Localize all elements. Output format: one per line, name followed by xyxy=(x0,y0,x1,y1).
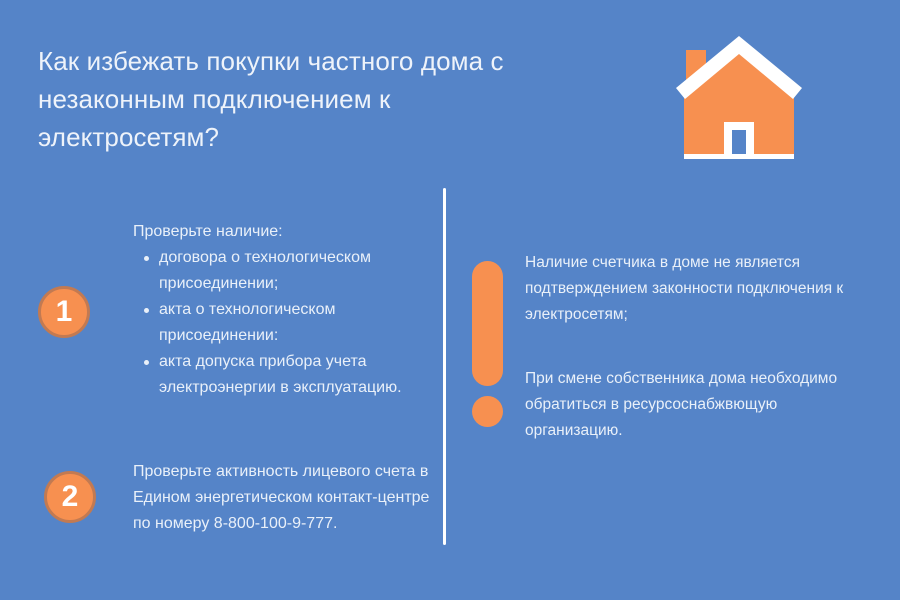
step-number-badge-1: 1 xyxy=(38,286,90,338)
step-1-content: Проверьте наличие: договора о технологич… xyxy=(133,219,423,401)
list-item: акта допуска прибора учета электроэнерги… xyxy=(133,349,423,401)
list-item: договора о технологическом присоединении… xyxy=(133,245,423,297)
house-icon xyxy=(664,28,814,163)
notice-paragraph-2: При смене собственника дома необходимо о… xyxy=(525,366,860,444)
exclamation-mark-dot-icon xyxy=(472,396,503,427)
vertical-divider xyxy=(443,188,446,545)
step-2-content: Проверьте активность лицевого счета в Ед… xyxy=(133,459,433,537)
page-title: Как избежать покупки частного дома с нез… xyxy=(38,42,598,156)
step-1-list: договора о технологическом присоединении… xyxy=(133,245,423,401)
step-number-badge-2: 2 xyxy=(44,471,96,523)
list-item: акта о технологическом присоединении: xyxy=(133,297,423,349)
step-1-lead: Проверьте наличие: xyxy=(133,219,423,245)
exclamation-mark-icon xyxy=(472,261,503,386)
infographic-poster: Как избежать покупки частного дома с нез… xyxy=(0,0,900,600)
notice-paragraph-1: Наличие счетчика в доме не является подт… xyxy=(525,250,860,328)
